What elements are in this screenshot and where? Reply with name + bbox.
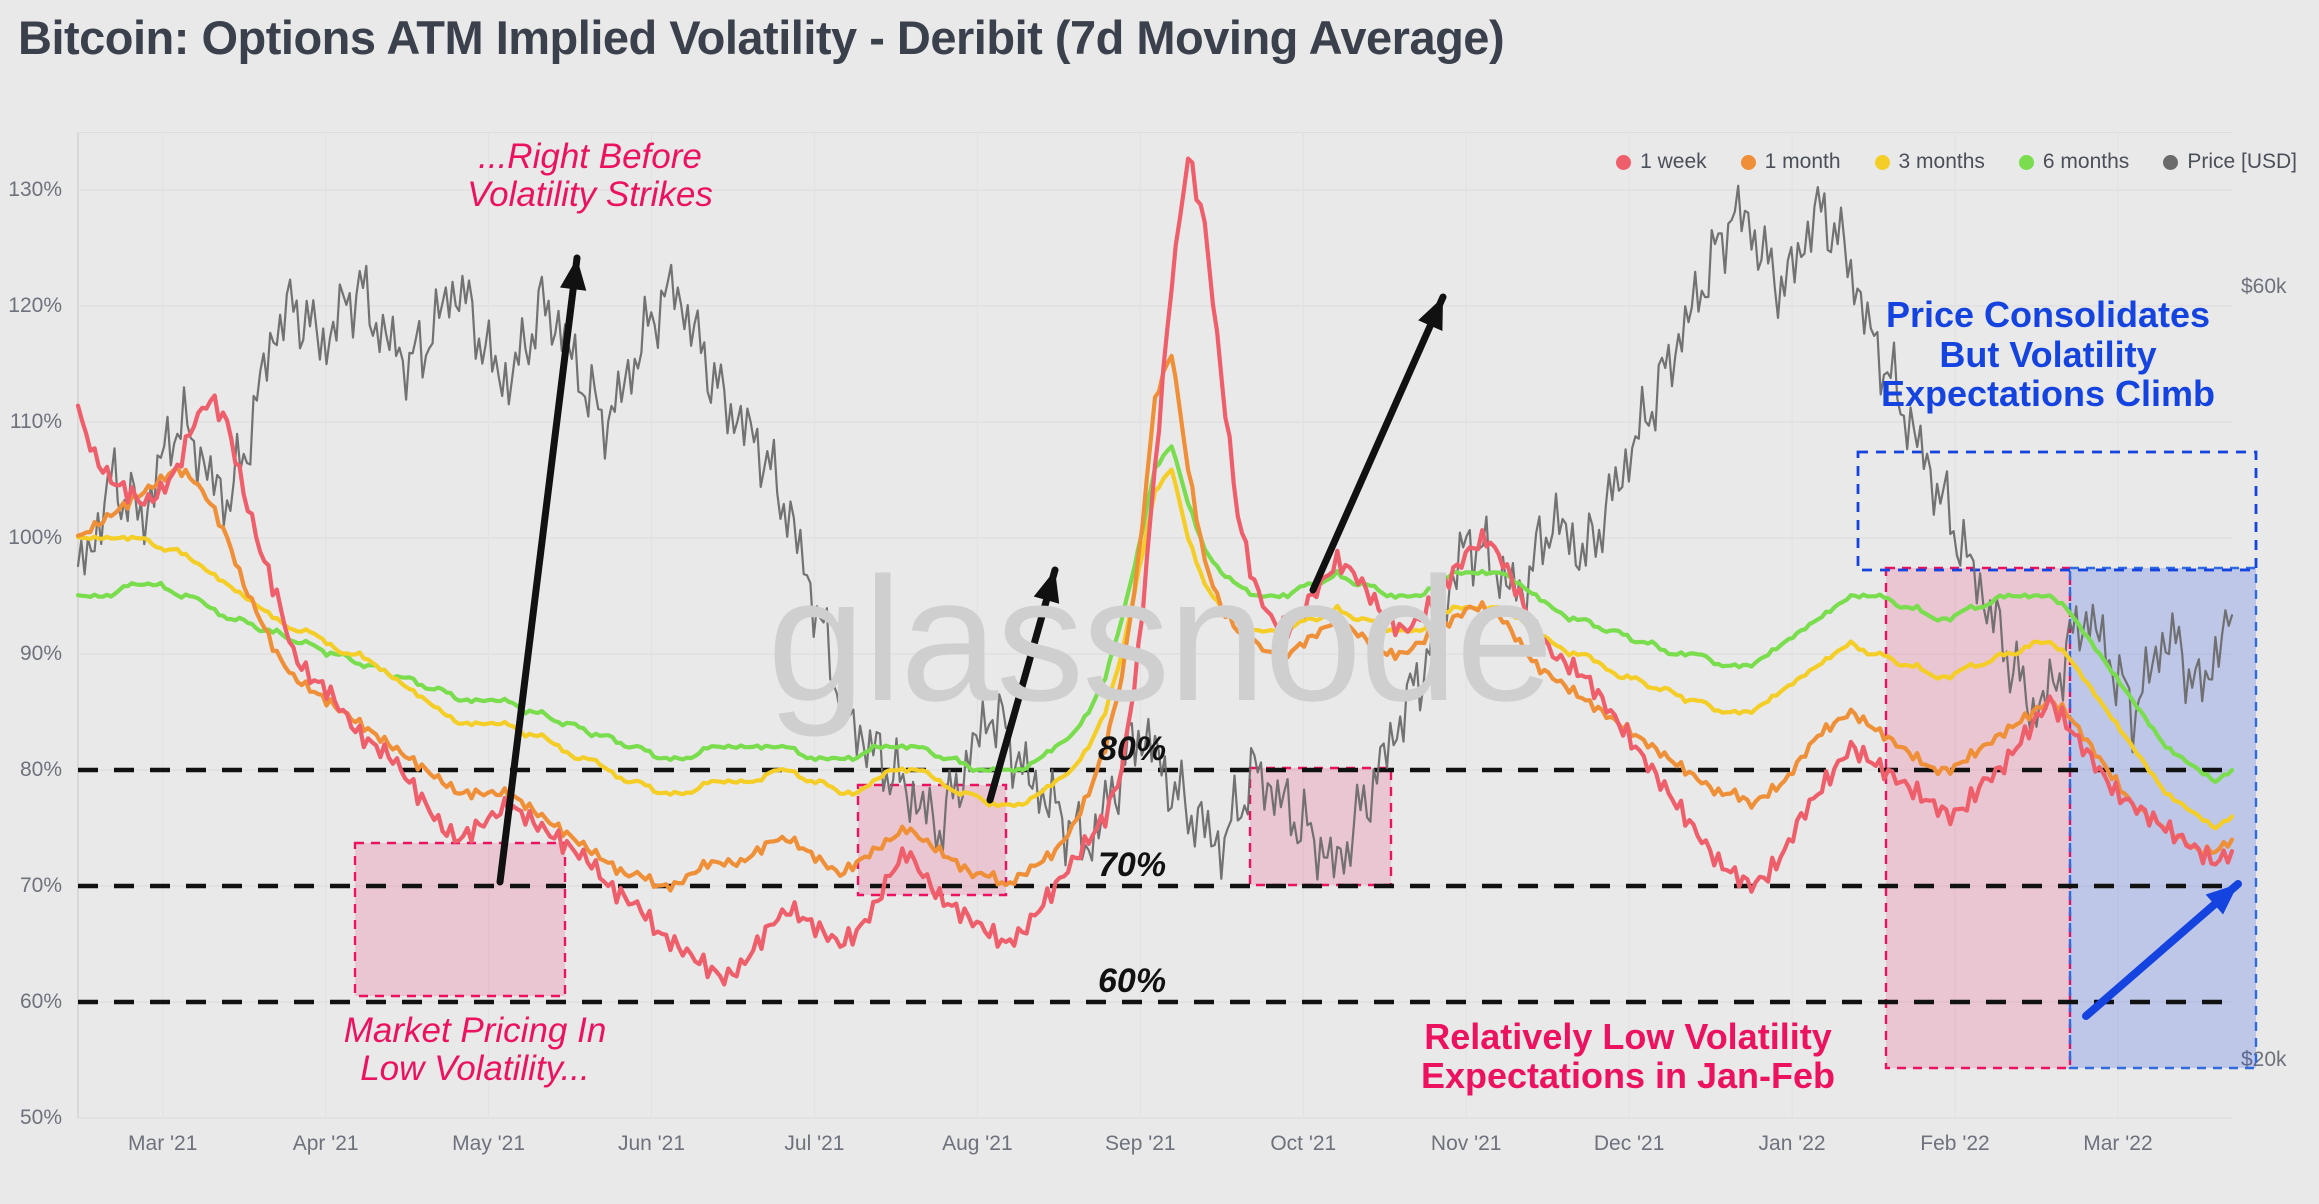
- chart-root: Bitcoin: Options ATM Implied Volatility …: [0, 0, 2319, 1204]
- legend-dot-icon: [2163, 155, 2178, 170]
- chart-legend: 1 week1 month3 months6 monthsPrice [USD]: [1616, 150, 2297, 174]
- annotation-price-consolidates-but-volatility-expectations-climb: Price Consolidates But Volatility Expect…: [1838, 295, 2258, 414]
- legend-label: 3 months: [1899, 150, 1985, 174]
- legend-dot-icon: [1616, 155, 1631, 170]
- legend-label: Price [USD]: [2187, 150, 2297, 174]
- annotation-right-before-volatility-strikes: ...Right Before Volatility Strikes: [410, 138, 770, 214]
- threshold-label-60: 60%: [1098, 962, 1166, 1001]
- legend-item-3-months[interactable]: 3 months: [1875, 150, 1985, 174]
- legend-dot-icon: [1741, 155, 1756, 170]
- legend-dot-icon: [2019, 155, 2034, 170]
- threshold-label-80: 80%: [1098, 730, 1166, 769]
- glassnode-watermark: glassnode: [767, 539, 1551, 741]
- legend-label: 1 month: [1765, 150, 1841, 174]
- legend-item-1-week[interactable]: 1 week: [1616, 150, 1707, 174]
- legend-label: 6 months: [2043, 150, 2129, 174]
- legend-dot-icon: [1875, 155, 1890, 170]
- highlight-apr-may-2021: [355, 843, 565, 996]
- legend-item-1-month[interactable]: 1 month: [1741, 150, 1841, 174]
- legend-item-6-months[interactable]: 6 months: [2019, 150, 2129, 174]
- legend-label: 1 week: [1640, 150, 1707, 174]
- page-title: Bitcoin: Options ATM Implied Volatility …: [18, 10, 1504, 65]
- legend-item-price-usd[interactable]: Price [USD]: [2163, 150, 2297, 174]
- annotation-market-pricing-in-low-volatility: Market Pricing In Low Volatility...: [290, 1012, 660, 1088]
- threshold-label-70: 70%: [1098, 846, 1166, 885]
- annotation-relatively-low-volatility-expectations-jan-feb: Relatively Low Volatility Expectations i…: [1378, 1018, 1878, 1096]
